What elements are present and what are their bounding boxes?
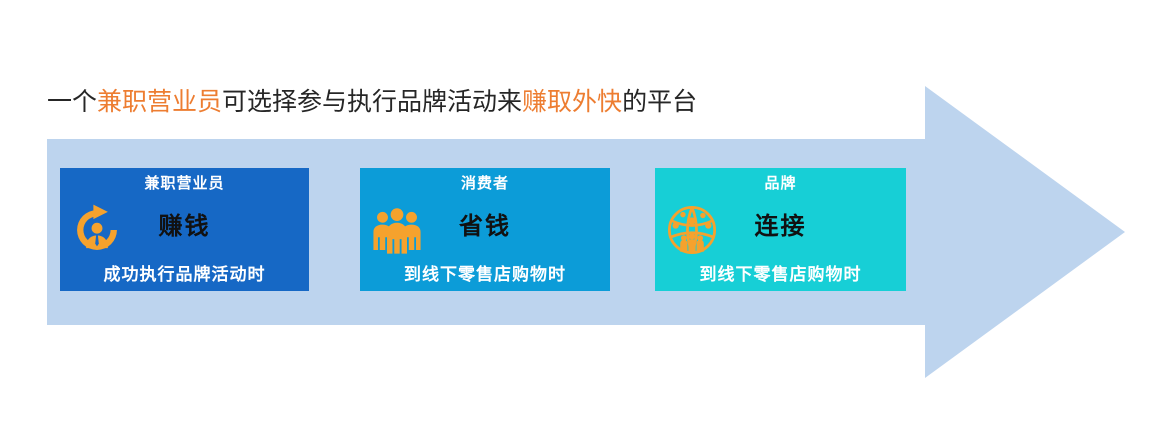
card-brand[interactable]: 品牌 — [655, 168, 906, 291]
headline-highlight-1: 兼职营业员 — [97, 89, 222, 116]
card-1-head: 兼职营业员 — [60, 174, 309, 194]
card-consumer[interactable]: 消费者 省钱 到线下零售店购物时 — [360, 168, 610, 291]
card-row: 兼职营业员 赚钱 — [60, 168, 906, 291]
card-2-foot: 到线下零售店购物时 — [360, 264, 610, 286]
card-1-main: 赚钱 — [60, 212, 309, 242]
card-3-main: 连接 — [655, 212, 906, 242]
slide-canvas: 一个兼职营业员可选择参与执行品牌活动来赚取外快的平台 兼职营业员 — [0, 0, 1150, 430]
card-3-head: 品牌 — [655, 174, 906, 194]
headline-highlight-2: 赚取外快 — [522, 89, 622, 116]
headline-part-3: 的平台 — [622, 89, 697, 116]
card-part-time-clerk[interactable]: 兼职营业员 赚钱 — [60, 168, 309, 291]
page-title: 一个兼职营业员可选择参与执行品牌活动来赚取外快的平台 — [47, 86, 697, 120]
headline-part-2: 可选择参与执行品牌活动来 — [222, 89, 522, 116]
card-2-head: 消费者 — [360, 174, 610, 194]
headline-part-1: 一个 — [47, 89, 97, 116]
card-1-foot: 成功执行品牌活动时 — [60, 264, 309, 286]
card-3-foot: 到线下零售店购物时 — [655, 264, 906, 286]
card-2-main: 省钱 — [360, 212, 610, 242]
